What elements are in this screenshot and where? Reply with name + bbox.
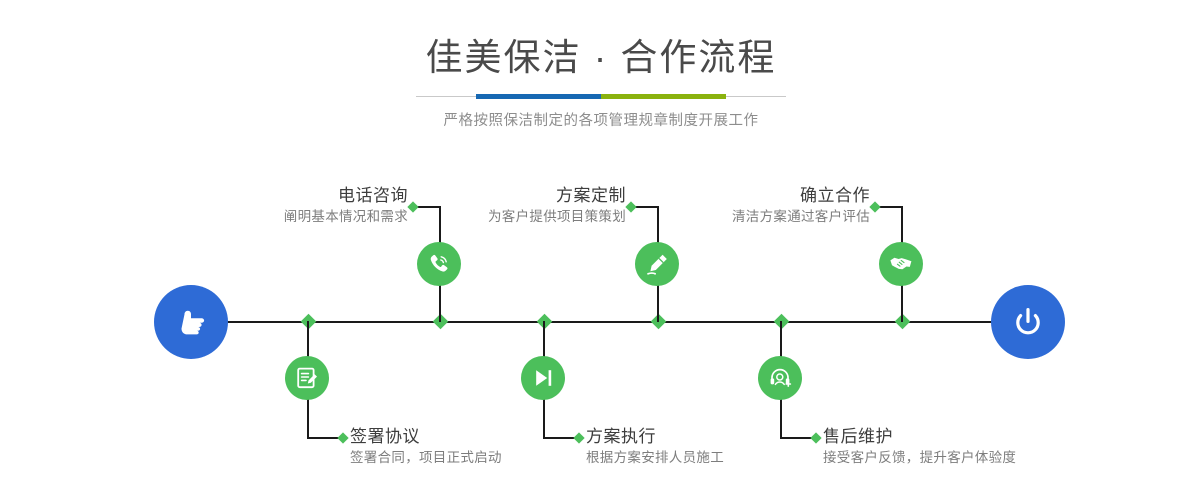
step-title-3: 方案定制 bbox=[370, 185, 626, 207]
step-label-6: 确立合作 清洁方案通过客户评估 bbox=[612, 185, 870, 227]
step-title-6: 确立合作 bbox=[612, 185, 870, 207]
power-icon bbox=[1008, 302, 1048, 342]
connector-horizontal-5 bbox=[780, 437, 814, 439]
step-icon-4[interactable] bbox=[521, 356, 565, 400]
step-label-5: 售后维护 接受客户反馈，提升客户体验度 bbox=[823, 426, 1143, 468]
step-label-3: 方案定制 为客户提供项目策策划 bbox=[370, 185, 626, 227]
pencil-ruler-icon bbox=[645, 252, 670, 277]
connector-horizontal-4 bbox=[543, 437, 577, 439]
step-icon-1[interactable] bbox=[417, 242, 461, 286]
process-timeline: 电话咨询 阐明基本情况和需求 签署协议 签署合同，项目正式启动 bbox=[0, 0, 1202, 502]
document-edit-icon bbox=[295, 366, 319, 390]
headset-support-icon bbox=[768, 366, 792, 390]
step-icon-5[interactable] bbox=[758, 356, 802, 400]
pointing-hand-icon bbox=[171, 302, 211, 342]
step-icon-3[interactable] bbox=[635, 242, 679, 286]
handshake-icon bbox=[888, 251, 914, 277]
step-subtitle-5: 接受客户反馈，提升客户体验度 bbox=[823, 448, 1143, 468]
step-icon-2[interactable] bbox=[285, 356, 329, 400]
step-icon-6[interactable] bbox=[879, 242, 923, 286]
timeline-end-node[interactable] bbox=[991, 285, 1065, 359]
connector-horizontal-2 bbox=[307, 437, 341, 439]
step-title-5: 售后维护 bbox=[823, 426, 1143, 448]
step-subtitle-3: 为客户提供项目策策划 bbox=[370, 207, 626, 227]
timeline-start-node[interactable] bbox=[154, 285, 228, 359]
label-marker-2 bbox=[337, 432, 348, 443]
play-next-icon bbox=[531, 366, 555, 390]
step-subtitle-6: 清洁方案通过客户评估 bbox=[612, 207, 870, 227]
label-marker-6 bbox=[869, 201, 880, 212]
phone-call-icon bbox=[426, 251, 452, 277]
